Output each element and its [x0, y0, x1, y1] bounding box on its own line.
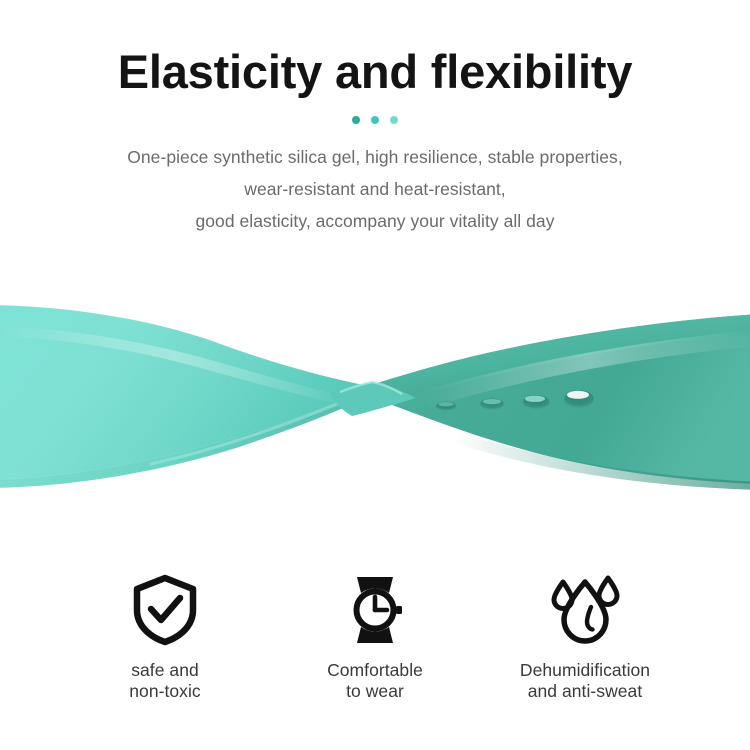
divider-dot-3 [390, 116, 398, 124]
band-right [368, 314, 750, 490]
wristwatch-icon [339, 572, 411, 648]
feature-label-line-1: safe and [129, 660, 200, 681]
product-illustration [0, 268, 750, 518]
adjustment-hole-2 [480, 399, 504, 410]
description-block: One-piece synthetic silica gel, high res… [0, 125, 750, 238]
feature-list: safe and non-toxic [0, 572, 750, 703]
adjustment-hole-3 [523, 395, 550, 409]
water-droplets-icon [546, 572, 624, 648]
feature-label-line-1: Comfortable [327, 660, 423, 681]
header-section: Elasticity and flexibility One-piece syn… [0, 0, 750, 238]
feature-label-line-2: and anti-sweat [520, 681, 650, 702]
product-feature-page: Elasticity and flexibility One-piece syn… [0, 0, 750, 750]
feature-label-safe-non-toxic: safe and non-toxic [129, 660, 200, 703]
adjustment-hole-4 [564, 390, 594, 408]
divider-dot-2 [371, 116, 379, 124]
description-line-2: wear-resistant and heat-resistant, [0, 173, 750, 205]
divider-dot-1 [352, 116, 360, 124]
shield-check-icon [131, 572, 199, 648]
feature-comfortable-to-wear: Comfortable to wear [270, 572, 480, 703]
dot-divider [0, 115, 750, 125]
feature-label-line-2: non-toxic [129, 681, 200, 702]
page-title: Elasticity and flexibility [0, 0, 750, 99]
feature-label-dehumidification: Dehumidification and anti-sweat [520, 660, 650, 703]
feature-label-comfortable-to-wear: Comfortable to wear [327, 660, 423, 703]
band-left [0, 305, 368, 488]
description-line-3: good elasticity, accompany your vitality… [0, 205, 750, 237]
adjustment-hole-1 [436, 402, 456, 411]
feature-label-line-1: Dehumidification [520, 660, 650, 681]
description-line-1: One-piece synthetic silica gel, high res… [0, 141, 750, 173]
feature-label-line-2: to wear [327, 681, 423, 702]
feature-safe-non-toxic: safe and non-toxic [60, 572, 270, 703]
feature-dehumidification: Dehumidification and anti-sweat [480, 572, 690, 703]
product-image [0, 268, 750, 518]
